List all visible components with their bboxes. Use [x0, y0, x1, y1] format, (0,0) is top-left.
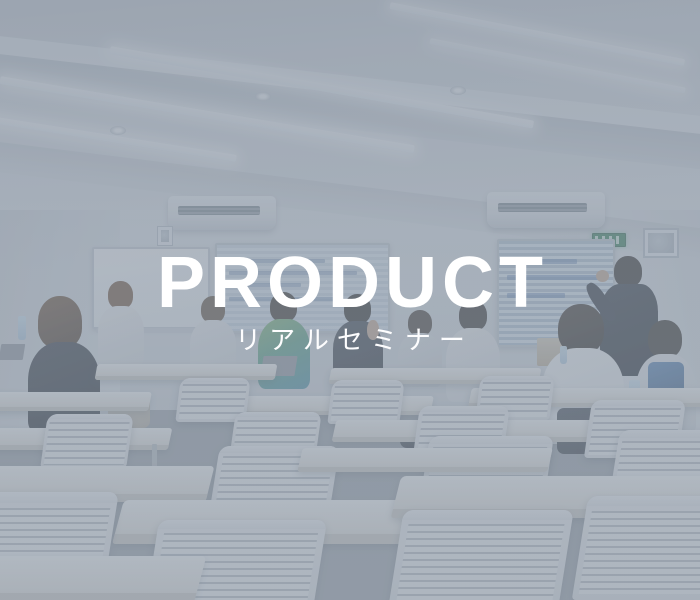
product-hero-banner: PRODUCT リアルセミナー: [0, 0, 700, 600]
page-subtitle: リアルセミナー: [227, 327, 473, 353]
hero-caption: PRODUCT リアルセミナー: [0, 0, 700, 600]
page-title: PRODUCT: [152, 247, 548, 319]
